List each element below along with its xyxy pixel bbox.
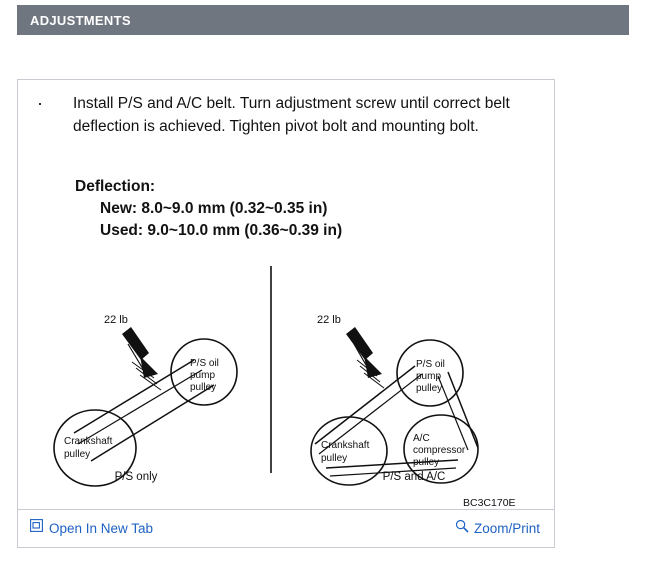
deflection-used: Used: 9.0~10.0 mm (0.36~0.39 in)	[100, 220, 342, 242]
right-ps-pulley-label-1: P/S oil	[416, 359, 445, 370]
left-crank-pulley-label-1: Crankshaft	[64, 436, 113, 447]
left-ps-pulley-label-3: pulley	[190, 382, 216, 393]
deflection-specs: Deflection: New: 8.0~9.0 mm (0.32~0.35 i…	[75, 176, 342, 242]
left-diagram-caption: P/S only	[115, 471, 158, 483]
deflection-new: New: 8.0~9.0 mm (0.32~0.35 in)	[100, 198, 342, 220]
magnifier-icon	[455, 519, 469, 538]
page-title: ADJUSTMENTS	[30, 13, 131, 28]
left-crank-pulley-label-2: pulley	[64, 449, 90, 460]
page-root: ADJUSTMENTS Install P/S and A/C belt. Tu…	[0, 0, 646, 566]
right-ac-pulley-label-1: A/C	[413, 433, 430, 444]
zoom-print-button[interactable]: Zoom/Print	[455, 519, 540, 538]
content-panel: Install P/S and A/C belt. Turn adjustmen…	[17, 79, 555, 548]
right-crank-pulley-label-1: Crankshaft	[321, 440, 370, 451]
left-ps-pulley-label-2: pump	[190, 370, 215, 381]
open-in-new-tab-label[interactable]: Open In New Tab	[49, 521, 153, 536]
right-ac-pulley-label-3: pulley	[413, 457, 439, 468]
left-force-label: 22 lb	[104, 314, 128, 326]
new-window-icon	[30, 519, 43, 537]
right-force-label: 22 lb	[317, 314, 341, 326]
panel-body: Install P/S and A/C belt. Turn adjustmen…	[18, 80, 554, 510]
left-arrow-head	[140, 356, 158, 378]
figure-code-label: BC3C170E	[463, 497, 516, 508]
panel-footer: Open In New Tab Zoom/Print	[18, 509, 554, 547]
instruction-text: Install P/S and A/C belt. Turn adjustmen…	[73, 92, 528, 139]
deflection-heading: Deflection:	[75, 176, 342, 198]
bullet-dot	[39, 103, 41, 105]
right-ps-pulley-label-3: pulley	[416, 383, 442, 394]
right-ps-pulley-label-2: pump	[416, 371, 441, 382]
open-in-new-tab-button[interactable]: Open In New Tab	[30, 519, 153, 537]
right-crank-pulley-label-2: pulley	[321, 453, 347, 464]
right-ac-pulley-label-2: compressor	[413, 445, 466, 456]
zoom-print-label[interactable]: Zoom/Print	[474, 521, 540, 536]
right-arrow-shaft	[346, 327, 373, 360]
section-header-bar: ADJUSTMENTS	[17, 5, 629, 35]
right-diagram-caption: P/S and A/C	[383, 471, 446, 483]
belt-routing-figure: 22 lb P/S oil pump pulley Crankshaft pul…	[18, 248, 554, 508]
left-arrow-shaft	[122, 327, 149, 360]
left-ps-pulley-label-1: P/S oil	[190, 358, 219, 369]
